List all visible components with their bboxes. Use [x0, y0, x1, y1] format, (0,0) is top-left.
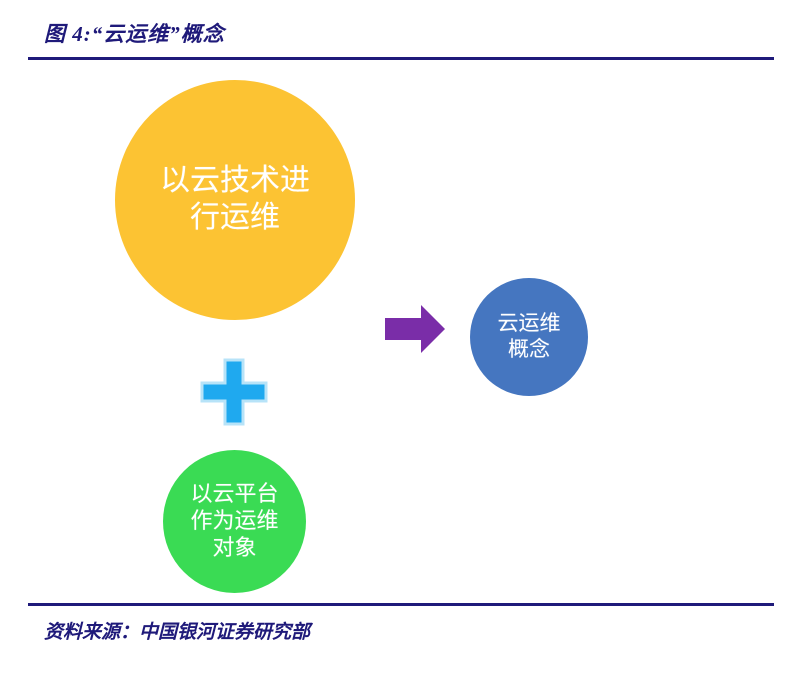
node-cloud-tech-ops: 以云技术进 行运维 — [115, 80, 355, 320]
figure-page: 图 4:“云运维”概念 以云技术进 行运维 以云平台 作为运维 对象 云运维 概… — [0, 0, 802, 684]
source-divider-bottom — [28, 603, 774, 606]
node-cloud-tech-ops-label: 以云技术进 行运维 — [126, 163, 344, 236]
figure-title: 图 4:“云运维”概念 — [44, 18, 225, 48]
node-cloud-ops-concept: 云运维 概念 — [470, 278, 588, 396]
node-cloud-ops-concept-label: 云运维 概念 — [486, 311, 573, 362]
arrow-right-icon — [383, 303, 447, 355]
plus-icon — [199, 357, 269, 427]
source-note: 资料来源：中国银河证券研究部 — [44, 617, 310, 644]
node-cloud-platform-object: 以云平台 作为运维 对象 — [163, 450, 306, 593]
node-cloud-platform-object-label: 以云平台 作为运维 对象 — [172, 481, 296, 561]
diagram-canvas: 以云技术进 行运维 以云平台 作为运维 对象 云运维 概念 — [0, 60, 802, 603]
